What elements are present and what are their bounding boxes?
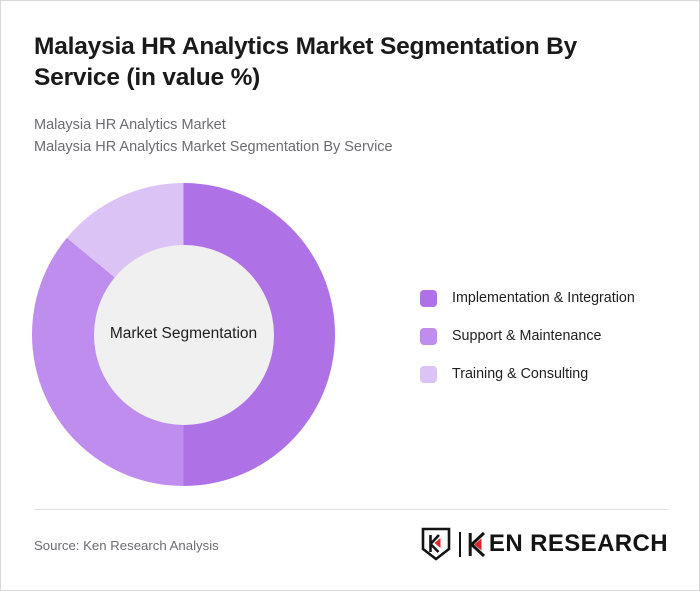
legend-swatch — [420, 328, 437, 345]
legend-item[interactable]: Implementation & Integration — [420, 279, 635, 317]
source-note: Source: Ken Research Analysis — [34, 538, 219, 553]
legend-item[interactable]: Training & Consulting — [420, 355, 635, 393]
brand-k-icon — [468, 532, 488, 557]
legend-label: Support & Maintenance — [452, 328, 601, 344]
chart-header: Malaysia HR Analytics Market Segmentatio… — [34, 31, 634, 158]
subtitle-group: Malaysia HR Analytics Market Malaysia HR… — [34, 114, 634, 158]
chart-page: Malaysia HR Analytics Market Segmentatio… — [0, 0, 700, 591]
chart-area: Market Segmentation Implementation & Int… — [1, 171, 700, 501]
legend-label: Implementation & Integration — [452, 290, 635, 306]
footer-divider — [34, 509, 668, 510]
logo-divider — [459, 532, 461, 557]
chart-legend: Implementation & IntegrationSupport & Ma… — [420, 279, 635, 393]
legend-item[interactable]: Support & Maintenance — [420, 317, 635, 355]
legend-swatch — [420, 290, 437, 307]
donut-chart: Market Segmentation — [32, 183, 335, 486]
shield-k-icon — [421, 527, 451, 561]
subtitle-market: Malaysia HR Analytics Market — [34, 114, 634, 136]
legend-swatch — [420, 366, 437, 383]
brand-wordmark: EN RESEARCH — [468, 532, 668, 557]
brand-name: EN RESEARCH — [489, 532, 668, 556]
subtitle-segmentation: Malaysia HR Analytics Market Segmentatio… — [34, 136, 634, 158]
donut-center-label: Market Segmentation — [104, 324, 263, 344]
page-title: Malaysia HR Analytics Market Segmentatio… — [34, 31, 634, 94]
donut-hole: Market Segmentation — [94, 245, 274, 425]
legend-label: Training & Consulting — [452, 366, 588, 382]
ken-research-logo: EN RESEARCH — [421, 525, 668, 563]
